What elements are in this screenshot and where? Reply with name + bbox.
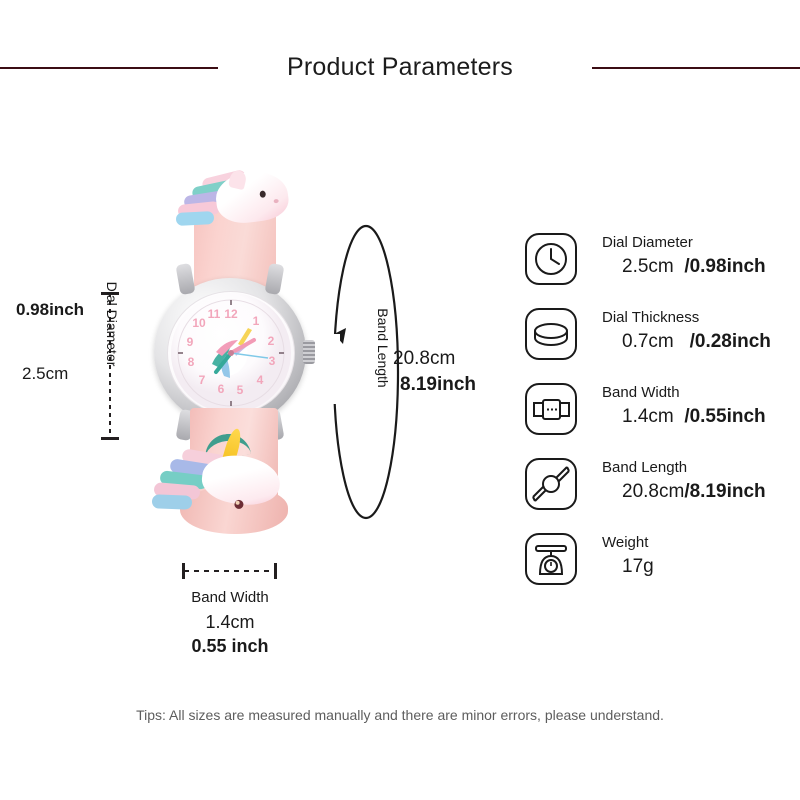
spec-value-inch: /0.55inch [684, 406, 765, 427]
svg-text:1: 1 [253, 314, 260, 328]
band-width-dimension-line [184, 570, 276, 572]
svg-text:2: 2 [268, 334, 275, 348]
dial-thickness-disc-icon [524, 307, 578, 361]
svg-text:4: 4 [257, 373, 264, 387]
svg-text:6: 6 [218, 382, 225, 396]
spec-row-weight: Weight 17g [524, 532, 800, 598]
spec-label: Band Width [602, 382, 800, 404]
svg-text:11: 11 [208, 307, 221, 321]
svg-text:12: 12 [224, 307, 238, 321]
svg-text:3: 3 [269, 354, 276, 368]
svg-text:10: 10 [192, 316, 206, 330]
product-photo: 12 1 2 3 4 5 6 7 8 9 10 11 [148, 160, 318, 570]
spec-value-inch: /0.98inch [684, 256, 765, 277]
band-length-caption: Band Length [375, 288, 391, 408]
spec-row-dial-thickness: Dial Thickness 0.7cm /0.28inch [524, 307, 800, 373]
band-width-cap-right [274, 563, 277, 579]
svg-text:5: 5 [237, 383, 244, 397]
unicorn-charm-bottom-icon [152, 432, 282, 510]
page-header: Product Parameters [0, 50, 800, 90]
watch-crown [303, 340, 315, 364]
spec-value: 1.4cm /0.55inch [602, 404, 800, 430]
spec-value-cm: 20.8cm [622, 481, 684, 502]
dial-diameter-cm-label: 2.5cm [22, 364, 68, 384]
spec-row-dial-diameter: Dial Diameter 2.5cm /0.98inch [524, 232, 800, 298]
svg-text:8: 8 [188, 355, 195, 369]
watch-case: 12 1 2 3 4 5 6 7 8 9 10 11 [154, 278, 306, 426]
dial-diameter-clock-icon [524, 232, 578, 286]
spec-value-inch: /8.19inch [684, 481, 765, 502]
dial-diameter-cap-bottom [101, 437, 119, 440]
spec-label: Weight [602, 532, 800, 554]
band-width-cm-label: 1.4cm [130, 612, 330, 633]
weight-scale-icon [524, 532, 578, 586]
band-length-watch-icon [524, 457, 578, 511]
spec-label: Dial Thickness [602, 307, 800, 329]
spec-value-cm: 1.4cm [622, 406, 674, 427]
spec-value: 17g [602, 554, 800, 580]
band-length-cm-label: 20.8cm [393, 348, 455, 370]
spec-value: 2.5cm /0.98inch [602, 254, 800, 280]
product-parameters-page: Product Parameters [0, 0, 800, 800]
dial-face-graphic: 12 1 2 3 4 5 6 7 8 9 10 11 [168, 292, 294, 414]
band-width-buckle-icon [524, 382, 578, 436]
header-rule-right [592, 67, 800, 69]
band-length-inch-label: 8.19inch [400, 374, 476, 396]
footer-tip: Tips: All sizes are measured manually an… [0, 707, 800, 723]
dial-diameter-inch-label: 0.98inch [16, 300, 84, 320]
spec-value: 0.7cm /0.28inch [602, 329, 800, 355]
spec-value-inch: /0.28inch [690, 331, 771, 352]
band-length-loop-arrow [330, 222, 402, 522]
band-width-inch-label: 0.55 inch [130, 636, 330, 657]
band-width-caption: Band Width [130, 589, 330, 606]
spec-value-cm: 2.5cm [622, 256, 674, 277]
spec-row-band-length: Band Length 20.8cm/8.19inch [524, 457, 800, 523]
spec-label: Band Length [602, 457, 800, 479]
spec-label: Dial Diameter [602, 232, 800, 254]
dial-diameter-caption: Dial Diameter [104, 264, 120, 384]
unicorn-charm-top-icon [176, 170, 294, 228]
spec-row-band-width: Band Width 1.4cm /0.55inch [524, 382, 800, 448]
spec-list: Dial Diameter 2.5cm /0.98inch Dial Thick… [524, 232, 800, 607]
svg-text:7: 7 [199, 373, 206, 387]
spec-value-cm: 17g [622, 556, 654, 577]
spec-value: 20.8cm/8.19inch [602, 479, 800, 505]
svg-text:9: 9 [187, 335, 194, 349]
spec-value-cm: 0.7cm [622, 331, 674, 352]
watch-dial: 12 1 2 3 4 5 6 7 8 9 10 11 [167, 291, 295, 415]
